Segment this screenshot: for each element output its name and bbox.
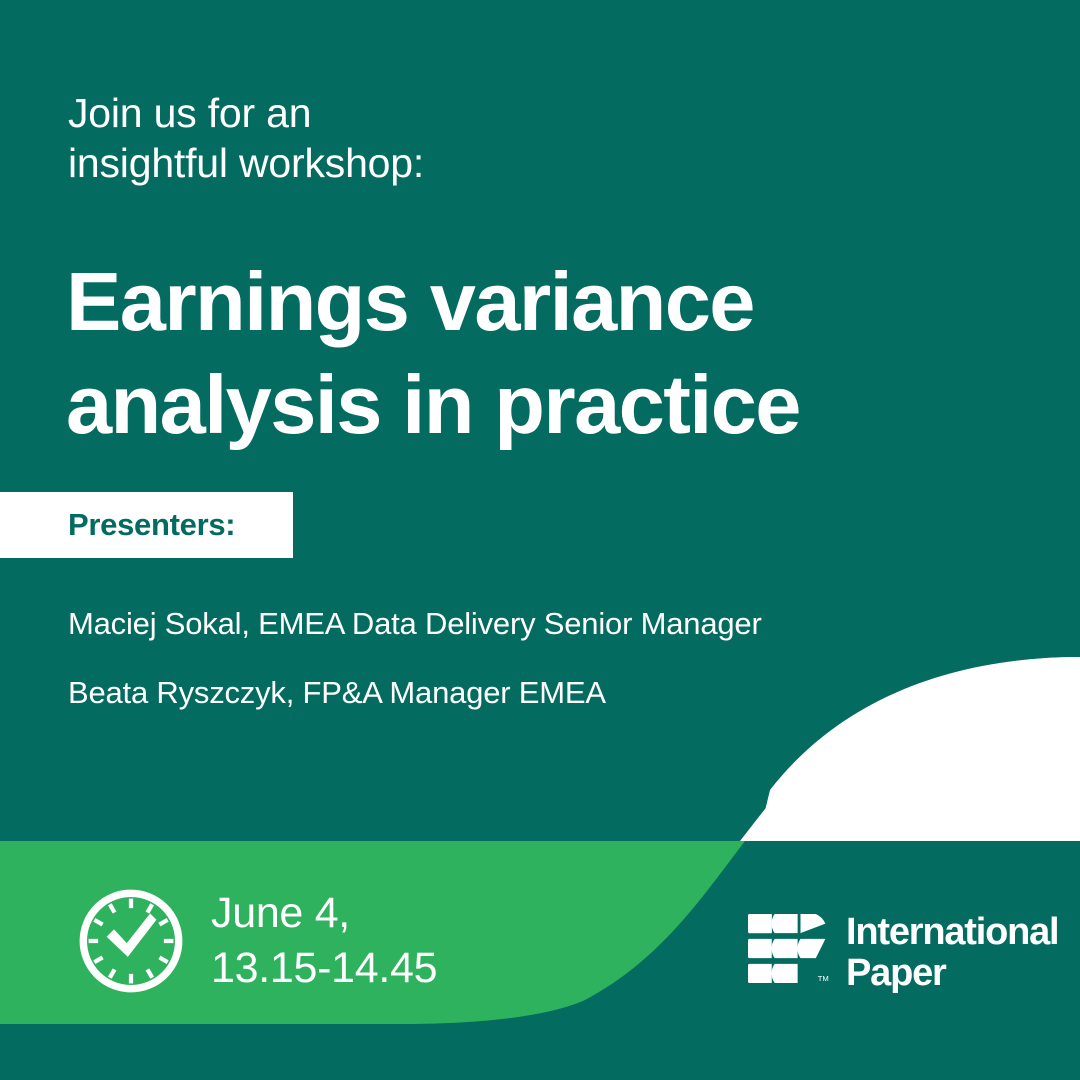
international-paper-logo-mark-icon: TM <box>748 914 830 983</box>
presenters-badge-label: Presenters: <box>68 507 235 543</box>
schedule-datetime: June 4, 13.15-14.45 <box>211 886 437 996</box>
brand-wordmark: International Paper <box>846 912 1058 993</box>
presenters-badge: Presenters: <box>0 492 293 558</box>
schedule-block: June 4, 13.15-14.45 <box>78 886 437 996</box>
clock-icon <box>78 888 184 994</box>
presenter-list: Maciej Sokal, EMEA Data Delivery Senior … <box>68 608 968 708</box>
eyebrow-text: Join us for an insightful workshop: <box>68 88 708 189</box>
list-item: Beata Ryszczyk, FP&A Manager EMEA <box>68 677 968 708</box>
trademark-symbol: TM <box>818 974 829 983</box>
page-title: Earnings variance analysis in practice <box>66 250 946 458</box>
list-item: Maciej Sokal, EMEA Data Delivery Senior … <box>68 608 968 639</box>
brand-logo: TM International Paper <box>748 912 1058 993</box>
workshop-promo-poster: Join us for an insightful workshop: Earn… <box>0 0 1080 1080</box>
